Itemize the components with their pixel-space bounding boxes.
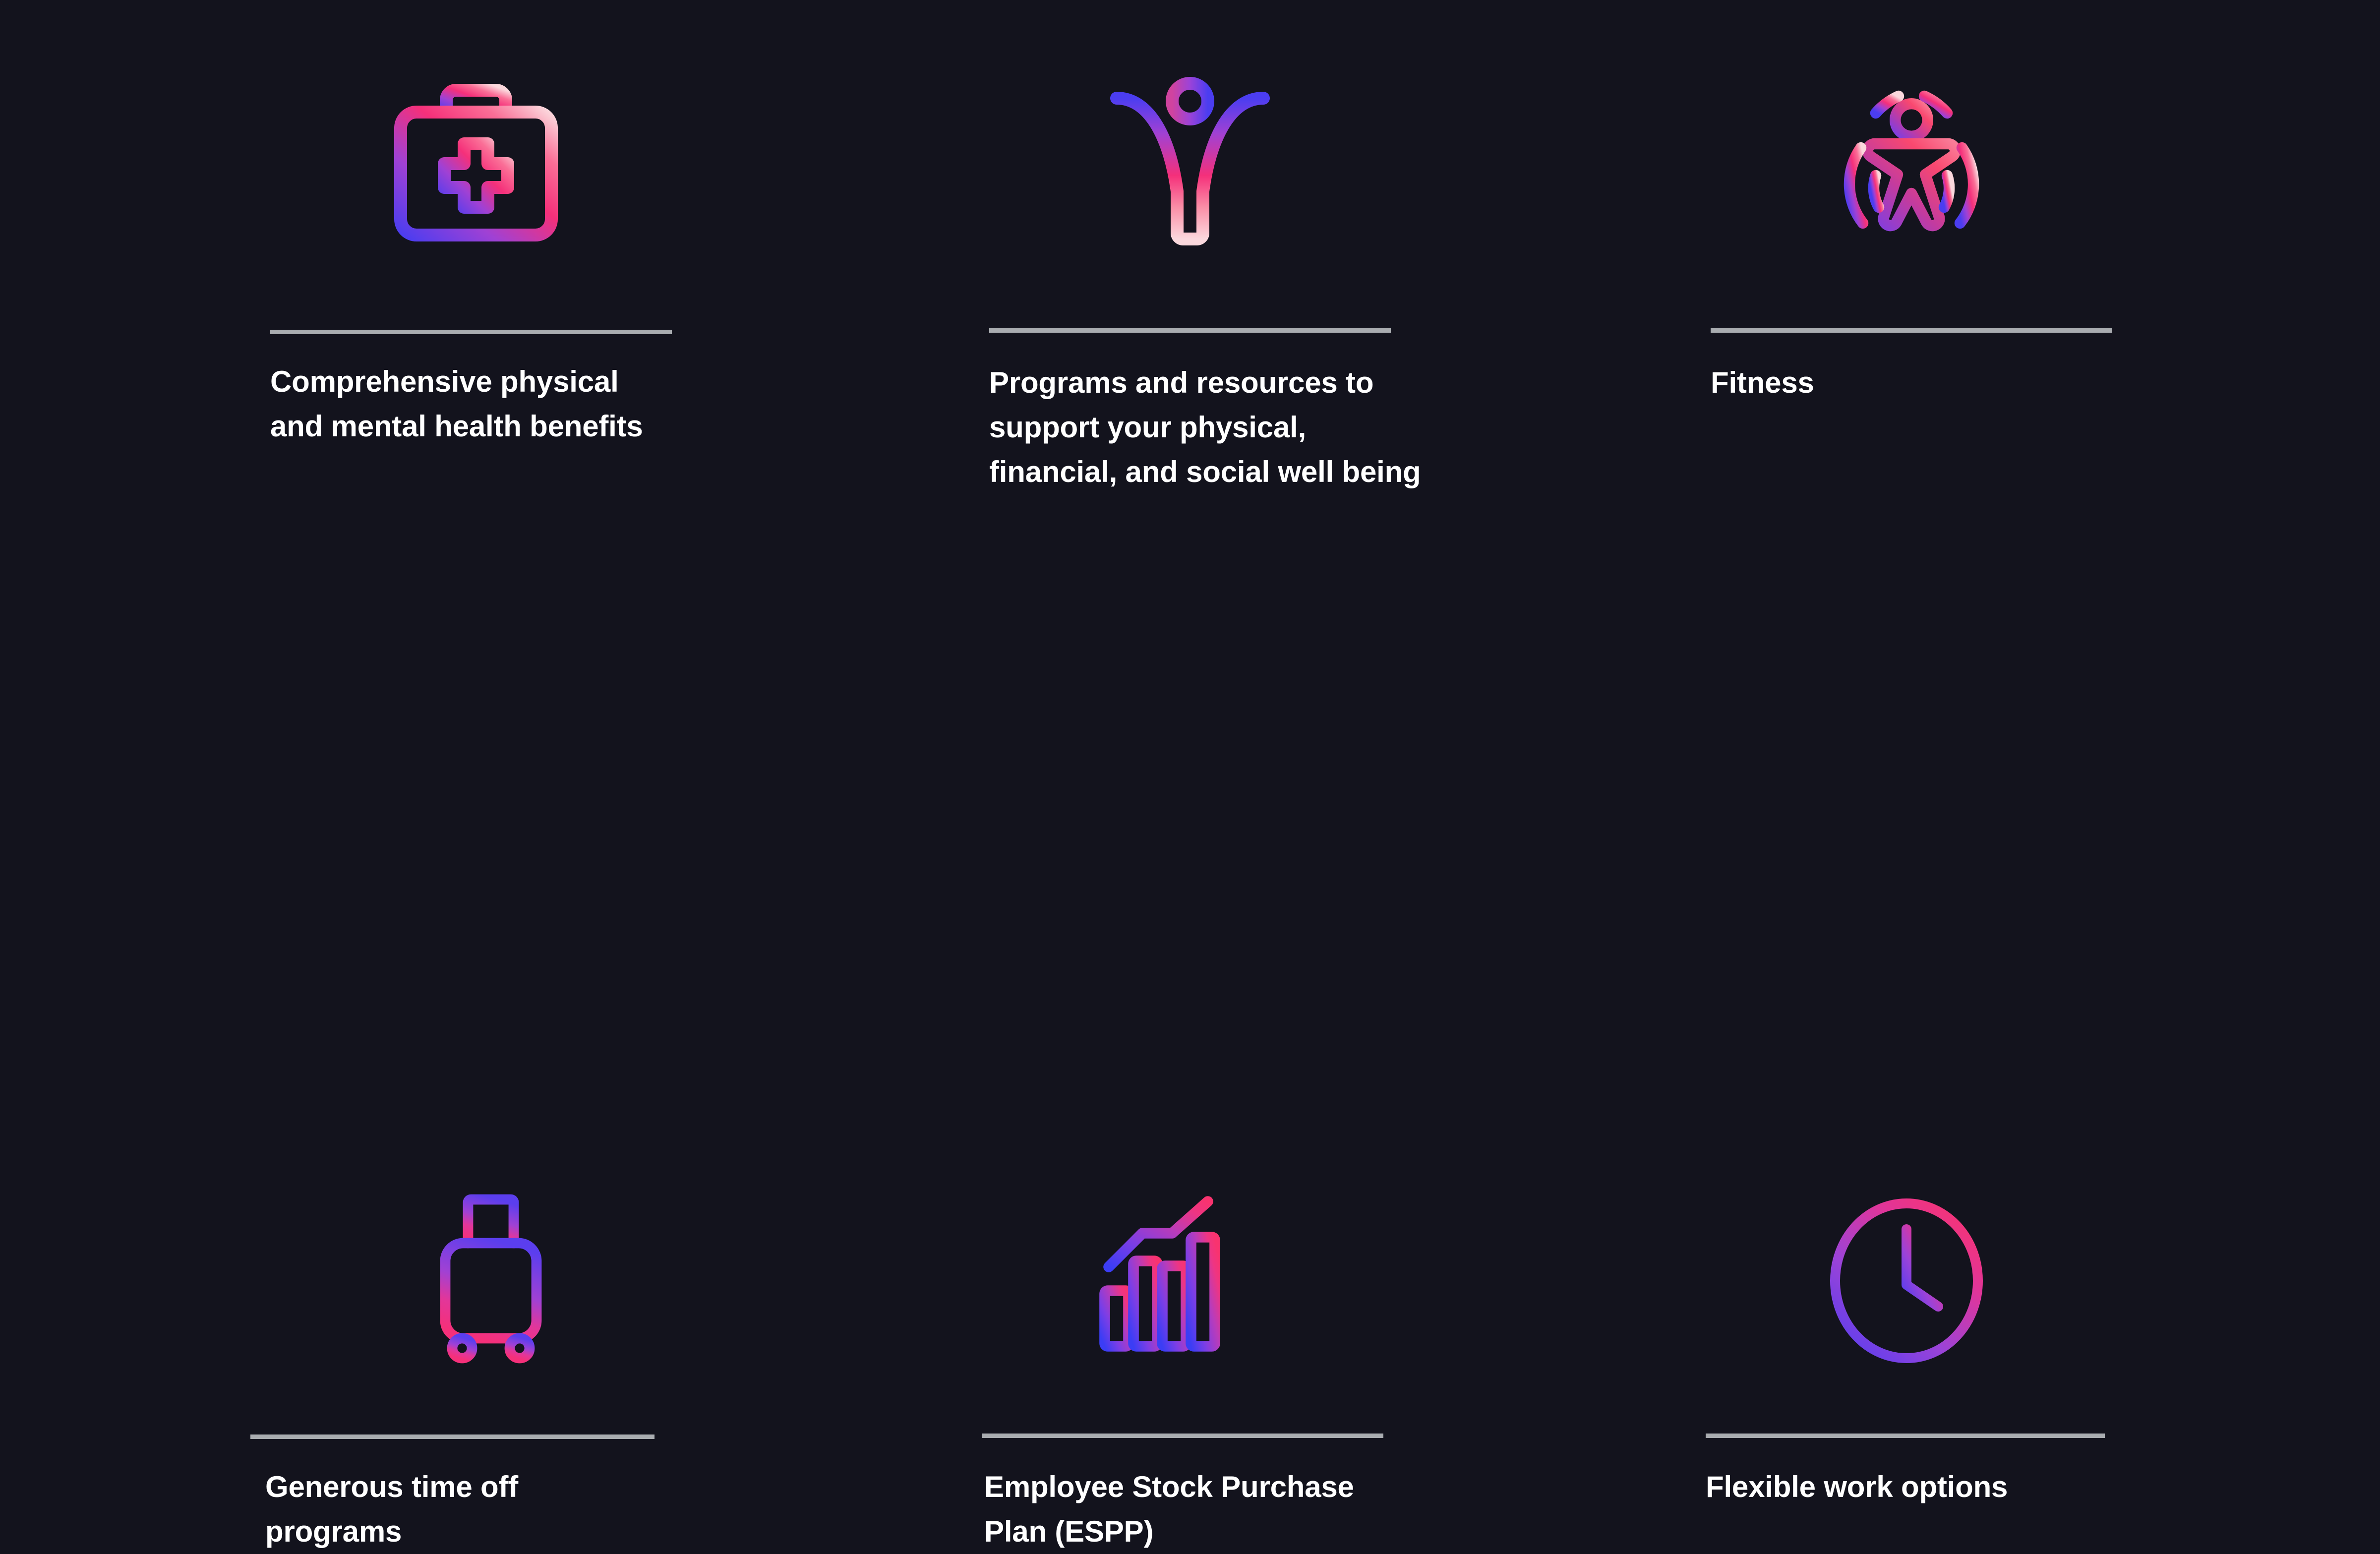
card-divider bbox=[1706, 1434, 2105, 1438]
card-divider bbox=[1711, 328, 2112, 333]
growth-bar-chart-icon bbox=[1081, 1177, 1279, 1385]
rolling-suitcase-icon bbox=[392, 1177, 590, 1385]
clock-icon bbox=[1807, 1177, 2006, 1385]
benefit-label: Employee Stock Purchase Plan (ESPP) bbox=[984, 1465, 1505, 1554]
benefit-label: Flexible work options bbox=[1706, 1465, 2201, 1509]
card-divider bbox=[250, 1434, 654, 1439]
benefits-page: Comprehensive physical and mental health… bbox=[0, 0, 2380, 1094]
benefit-label: Generous time off programs bbox=[265, 1465, 761, 1554]
benefit-card-fitness[interactable]: Fitness bbox=[0, 0, 2380, 547]
benefits-grid: Comprehensive physical and mental health… bbox=[0, 0, 2380, 1094]
benefit-label: Fitness bbox=[1711, 360, 2206, 405]
benefit-card-flexible-work[interactable]: Flexible work options bbox=[0, 547, 2380, 1094]
fitness-person-icon bbox=[1812, 60, 2011, 268]
card-divider bbox=[982, 1434, 1383, 1438]
